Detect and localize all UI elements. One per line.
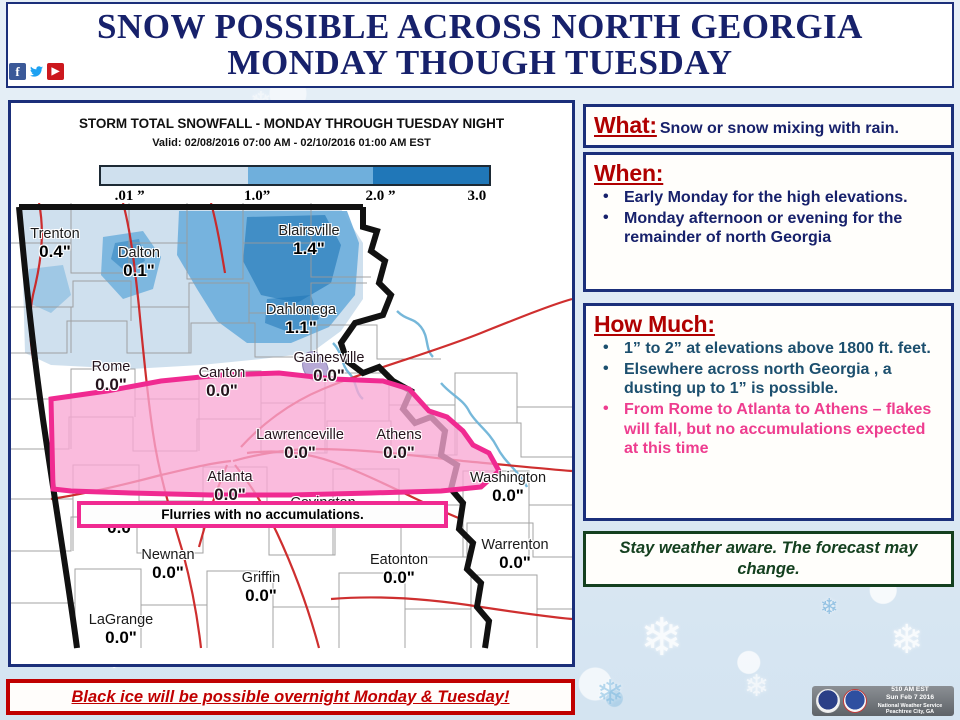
bullet-item: Monday afternoon or evening for the rema… [594,209,943,248]
flurries-callout: Flurries with no accumulations. [77,501,448,528]
bullet-item: Early Monday for the high elevations. [594,188,943,208]
nws-office: National Weather Service [870,703,950,710]
nws-city: Peachtree City, GA [870,709,950,716]
nws-seal-icon [843,689,867,713]
snowflake-icon: ❄ [596,676,625,710]
twitter-icon[interactable] [28,63,45,80]
page-title-line1: SNOW POSSIBLE ACROSS NORTH GEORGIA [97,7,863,46]
when-panel: When: Early Monday for the high elevatio… [583,152,954,292]
page-header: SNOW POSSIBLE ACROSS NORTH GEORGIA MONDA… [6,2,954,88]
stay-aware-text: Stay weather aware. The forecast may cha… [594,538,943,578]
snowfall-map-graphic [11,203,572,664]
when-heading: When: [594,160,663,187]
bullet-item: Elsewhere across north Georgia , a dusti… [594,360,943,399]
what-heading: What: [594,112,657,139]
snowflake-icon: ❄ [640,612,684,664]
social-links[interactable]: f ▶ [9,63,64,80]
bullet-item: 1” to 2” at elevations above 1800 ft. fe… [594,339,943,359]
nws-time: 510 AM EST [870,686,950,694]
stay-aware-panel: Stay weather aware. The forecast may cha… [583,531,954,587]
how-much-bullet-list: 1” to 2” at elevations above 1800 ft. fe… [594,339,943,459]
what-text: Snow or snow mixing with rain. [660,120,899,137]
map-title: STORM TOTAL SNOWFALL - MONDAY THROUGH TU… [11,116,572,131]
noaa-seal-icon [816,689,840,713]
how-much-heading: How Much: [594,311,715,338]
page-title-line2: MONDAY THOUGH TUESDAY [97,45,863,81]
map-valid-time: Valid: 02/08/2016 07:00 AM - 02/10/2016 … [11,137,572,149]
black-ice-text: Black ice will be possible overnight Mon… [72,688,510,707]
snowflake-icon: ❄ [744,672,769,702]
snowflake-icon: ❄ [820,596,838,618]
when-bullet-list: Early Monday for the high elevations.Mon… [594,188,943,248]
legend-band-1 [248,167,372,184]
snowflake-icon: ❄ [890,620,924,660]
nws-date: Sun Feb 7 2016 [870,694,950,702]
legend-colorbar [99,165,491,186]
black-ice-banner: Black ice will be possible overnight Mon… [6,679,575,715]
map-panel: STORM TOTAL SNOWFALL - MONDAY THROUGH TU… [8,100,575,667]
facebook-icon[interactable]: f [9,63,26,80]
nws-stamp-text: 510 AM EST Sun Feb 7 2016 National Weath… [870,686,950,717]
bullet-item: From Rome to Atlanta to Athens – flakes … [594,400,943,459]
what-line: What:Snow or snow mixing with rain. [594,112,899,139]
how-much-panel: How Much: 1” to 2” at elevations above 1… [583,303,954,521]
legend-band-2 [373,167,489,184]
page-title: SNOW POSSIBLE ACROSS NORTH GEORGIA MONDA… [97,9,863,80]
nws-logo-block: 510 AM EST Sun Feb 7 2016 National Weath… [812,686,954,716]
what-panel: What:Snow or snow mixing with rain. [583,104,954,148]
legend-band-0 [101,167,248,184]
youtube-icon[interactable]: ▶ [47,63,64,80]
